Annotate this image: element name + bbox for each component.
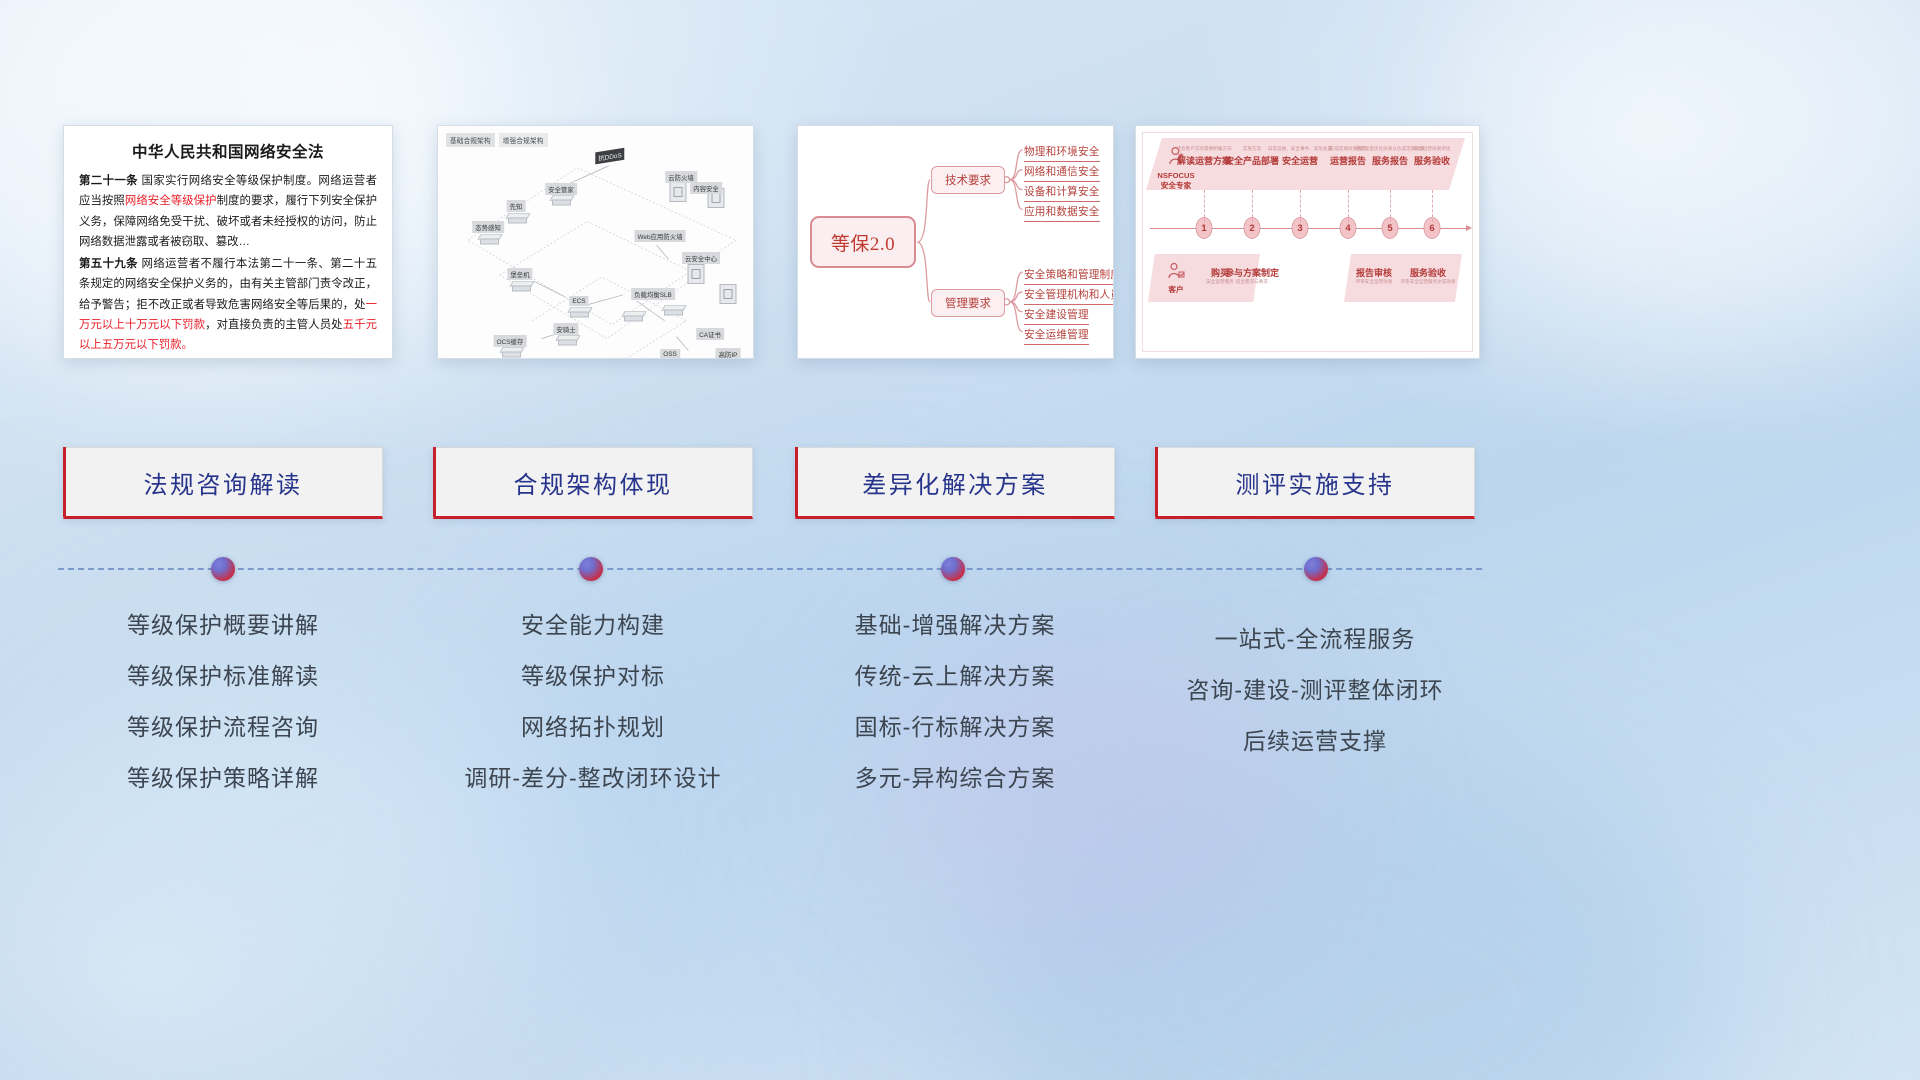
- detail-list-item: 网络拓扑规划: [433, 702, 753, 753]
- detail-list-regulation-consulting: 等级保护概要讲解等级保护标准解读等级保护流程咨询等级保护策略详解: [63, 600, 383, 804]
- timeline-step-title: 解读运营方案: [1176, 154, 1231, 167]
- law-body: 中华人民共和国网络安全法 第二十一条 国家实行网络安全等级保护制度。网络运营者应…: [64, 126, 392, 359]
- architecture-node-label: 堡垒机: [507, 268, 532, 280]
- timeline-customer-action-title: 参与方案制定: [1225, 266, 1279, 279]
- timeline-step-caption: 结合客户实际需要明确方向: [1176, 146, 1231, 152]
- detail-list-item: 等级保护概要讲解: [63, 600, 383, 651]
- headline-label: 测评实施支持: [1236, 465, 1395, 500]
- customer-person-icon: [1167, 262, 1185, 280]
- detail-list-item: 调研-差分-整改闭环设计: [433, 753, 753, 804]
- mindmap-leaf: 应用和数据安全: [1024, 204, 1100, 222]
- customer-label: 客户: [1167, 285, 1185, 295]
- timeline-rail-line: [58, 568, 1482, 570]
- timeline-rail-dot-3[interactable]: [941, 557, 965, 581]
- mindmap-branch-technical: 技术要求: [931, 166, 1005, 194]
- timeline-step-connector: [1204, 190, 1205, 222]
- service-timeline-card: NSFOCUS 安全专家 客户 1结合客户实际需要明确方向解读运营方案2实施方案…: [1135, 125, 1480, 359]
- architecture-node-shape: [507, 212, 529, 225]
- detail-list-item: 传统-云上解决方案: [795, 651, 1115, 702]
- mindmap-card: 等保2.0 技术要求 管理要求 物理和环境安全网络和通信安全设备和计算安全应用和…: [797, 125, 1114, 359]
- headline-box-compliance-architecture[interactable]: 合规架构体现: [433, 447, 753, 519]
- law-article-59-label: 第五十九条: [79, 258, 138, 270]
- architecture-server-icon: [670, 182, 687, 202]
- architecture-node-label: 安全管家: [545, 183, 577, 195]
- architecture-node-shape: [623, 310, 645, 323]
- detail-list-item: 安全能力构建: [433, 600, 753, 651]
- mindmap-leaf: 安全策略和管理制度: [1024, 267, 1114, 285]
- headline-label: 法规咨询解读: [144, 465, 303, 500]
- headline-row: 法规咨询解读 合规架构体现 差异化解决方案 测评实施支持: [0, 447, 1920, 519]
- law-article-21-highlight: 网络安全等级保护: [125, 195, 217, 207]
- law-article-59: 第五十九条 网络运营者不履行本法第二十一条、第二十五条规定的网络安全保护义务的，…: [79, 254, 377, 355]
- law-text-card: 中华人民共和国网络安全法 第二十一条 国家实行网络安全等级保护制度。网络运营者应…: [63, 125, 393, 359]
- architecture-node-shape: [511, 280, 533, 293]
- brand-subtitle: 安全专家: [1157, 181, 1194, 191]
- timeline-step-label: 安全运营效果评估服务验收: [1414, 146, 1451, 167]
- detail-list-item: 等级保护对标: [433, 651, 753, 702]
- detail-list-item: 等级保护标准解读: [63, 651, 383, 702]
- headline-label: 合规架构体现: [514, 465, 673, 500]
- timeline-rail: [58, 568, 1482, 570]
- detail-list-item: 等级保护流程咨询: [63, 702, 383, 753]
- architecture-server-icon: [720, 284, 737, 304]
- headline-box-assessment-support[interactable]: 测评实施支持: [1155, 447, 1475, 519]
- architecture-canvas: 基础合规架构 增强合规架构: [438, 126, 753, 358]
- timeline-customer-action: 参与方案制定提出需求与要求: [1225, 264, 1279, 285]
- architecture-node-label: Web应用防火墙: [635, 230, 686, 242]
- architecture-node-shape: [663, 304, 685, 317]
- architecture-node-shape: [557, 334, 579, 347]
- architecture-node-label: 内容安全: [690, 182, 722, 194]
- architecture-node-label: OSS: [660, 349, 680, 359]
- mindmap-leaf: 物理和环境安全: [1024, 144, 1100, 162]
- mindmap-leaf: 安全运维管理: [1024, 327, 1089, 345]
- headline-label: 差异化解决方案: [862, 465, 1048, 500]
- timeline-step-connector: [1432, 190, 1433, 222]
- headline-box-differentiated-solution[interactable]: 差异化解决方案: [795, 447, 1115, 519]
- timeline-step-title: 服务验收: [1414, 154, 1451, 167]
- timeline-step-connector: [1348, 190, 1349, 222]
- timeline-step-connector: [1300, 190, 1301, 222]
- timeline-customer-review-caption: 评审安全运营效果: [1356, 279, 1393, 285]
- architecture-node-shape: [501, 346, 523, 359]
- timeline-step-label: 结合客户实际需要明确方向解读运营方案: [1176, 146, 1231, 167]
- detail-list-item: 基础-增强解决方案: [795, 600, 1115, 651]
- architecture-node-shape: [569, 306, 591, 319]
- timeline-customer-action-caption: 提出需求与要求: [1225, 279, 1279, 285]
- slide-stage: 中华人民共和国网络安全法 第二十一条 国家实行网络安全等级保护制度。网络运营者应…: [0, 0, 1920, 1080]
- architecture-node-label: ECS: [569, 296, 588, 306]
- timeline-step-connector: [1390, 190, 1391, 222]
- headline-box-regulation-consulting[interactable]: 法规咨询解读: [63, 447, 383, 519]
- detail-list-item: 多元-异构综合方案: [795, 753, 1115, 804]
- architecture-node-label: CA证书: [696, 328, 724, 340]
- architecture-node-label: 负载均衡SLB: [631, 288, 675, 300]
- architecture-node-shape: [551, 194, 573, 207]
- detail-list-item: 等级保护策略详解: [63, 753, 383, 804]
- timeline-customer-review: 报告审核评审安全运营效果: [1356, 264, 1393, 285]
- architecture-node-label: 高防IP: [716, 348, 741, 359]
- customer-badge: 客户: [1167, 262, 1185, 295]
- detail-list-compliance-architecture: 安全能力构建等级保护对标网络拓扑规划调研-差分-整改闭环设计: [433, 600, 753, 804]
- detail-list-item: 国标-行标解决方案: [795, 702, 1115, 753]
- mindmap-leaf: 网络和通信安全: [1024, 164, 1100, 182]
- architecture-node-label: 态势感知: [472, 221, 504, 233]
- timeline-step-caption: 安全运营效果评估: [1414, 146, 1451, 152]
- law-article-59-text-b: ，对直接负责的主管人员处: [205, 319, 343, 331]
- timeline-customer-review-caption: 评审安全运营服务达成效果: [1400, 279, 1455, 285]
- detail-list-item: 一站式-全流程服务: [1155, 614, 1475, 665]
- law-title: 中华人民共和国网络安全法: [79, 140, 377, 162]
- mindmap-root-node: 等保2.0: [810, 216, 916, 268]
- architecture-node-label: 先知: [507, 200, 526, 212]
- detail-list-differentiated-solution: 基础-增强解决方案传统-云上解决方案国标-行标解决方案多元-异构综合方案: [795, 600, 1115, 804]
- timeline-customer-review: 服务验收评审安全运营服务达成效果: [1400, 264, 1455, 285]
- architecture-node-label: 云安全中心: [682, 252, 720, 264]
- timeline-customer-review-title: 服务验收: [1400, 266, 1455, 279]
- architecture-node-label: OCS缓存: [494, 335, 527, 347]
- mindmap-leaf: 设备和计算安全: [1024, 184, 1100, 202]
- mindmap-canvas: 等保2.0 技术要求 管理要求 物理和环境安全网络和通信安全设备和计算安全应用和…: [798, 126, 1113, 358]
- mindmap-leaf: 安全管理机构和人员: [1024, 287, 1114, 305]
- timeline-step-caption: 日常运维、安全事件、高危处置: [1268, 146, 1332, 152]
- detail-list-item: 后续运营支撑: [1155, 716, 1475, 767]
- detail-list-assessment-support: 一站式-全流程服务咨询-建设-测评整体闭环后续运营支撑: [1155, 614, 1475, 767]
- timeline-step-label: 日常运维、安全事件、高危处置安全运营: [1268, 146, 1332, 167]
- architecture-diagram-card: 基础合规架构 增强合规架构: [437, 125, 754, 359]
- mindmap-leaf: 安全建设管理: [1024, 307, 1089, 325]
- detail-list-item: 咨询-建设-测评整体闭环: [1155, 665, 1475, 716]
- service-timeline-canvas: NSFOCUS 安全专家 客户 1结合客户实际需要明确方向解读运营方案2实施方案…: [1136, 126, 1479, 358]
- image-card-row: 中华人民共和国网络安全法 第二十一条 国家实行网络安全等级保护制度。网络运营者应…: [0, 125, 1920, 360]
- timeline-customer-review-title: 报告审核: [1356, 266, 1393, 279]
- architecture-server-icon: [688, 264, 705, 284]
- timeline-rail-dot-1[interactable]: [211, 557, 235, 581]
- law-article-21-label: 第二十一条: [79, 175, 138, 187]
- timeline-step-connector: [1252, 190, 1253, 222]
- timeline-rail-dot-4[interactable]: [1304, 557, 1328, 581]
- architecture-node-shape: [479, 233, 501, 246]
- brand-name: NSFOCUS: [1157, 171, 1194, 181]
- law-article-21: 第二十一条 国家实行网络安全等级保护制度。网络运营者应当按照网络安全等级保护制度…: [79, 171, 377, 252]
- timeline-step-title: 安全运营: [1268, 154, 1332, 167]
- timeline-rail-dot-2[interactable]: [579, 557, 603, 581]
- mindmap-branch-management: 管理要求: [931, 289, 1005, 317]
- architecture-node-label: 安骑士: [553, 323, 578, 335]
